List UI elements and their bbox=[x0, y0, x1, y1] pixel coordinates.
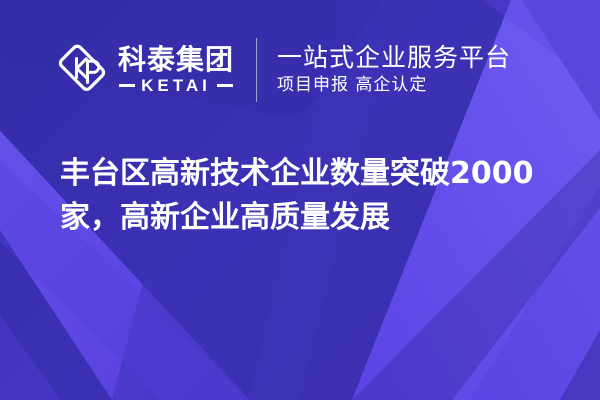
tagline-sub: 项目申报 高企认定 bbox=[277, 77, 511, 95]
brand-name-en: KETAI bbox=[141, 77, 211, 94]
brand-name-cn: 科泰集团 bbox=[118, 46, 234, 74]
promo-banner: 科泰集团 KETAI 一站式企业服务平台 项目申报 高企认定 丰台区高新技术企业… bbox=[0, 0, 600, 400]
tagline-main: 一站式企业服务平台 bbox=[277, 45, 511, 71]
headline-text: 丰台区高新技术企业数量突破2000家，高新企业高质量发展 bbox=[60, 152, 570, 239]
banner-header: 科泰集团 KETAI 一站式企业服务平台 项目申报 高企认定 bbox=[0, 0, 600, 140]
dash-right-icon bbox=[217, 84, 233, 87]
dash-left-icon bbox=[119, 84, 135, 87]
vertical-divider bbox=[256, 38, 257, 102]
brand-logo[interactable]: 科泰集团 KETAI bbox=[56, 44, 234, 96]
tagline-block: 一站式企业服务平台 项目申报 高企认定 bbox=[277, 45, 511, 95]
brand-wordmark: 科泰集团 KETAI bbox=[118, 46, 234, 94]
ketai-diamond-kp-icon bbox=[56, 42, 108, 94]
brand-name-en-row: KETAI bbox=[118, 77, 234, 94]
